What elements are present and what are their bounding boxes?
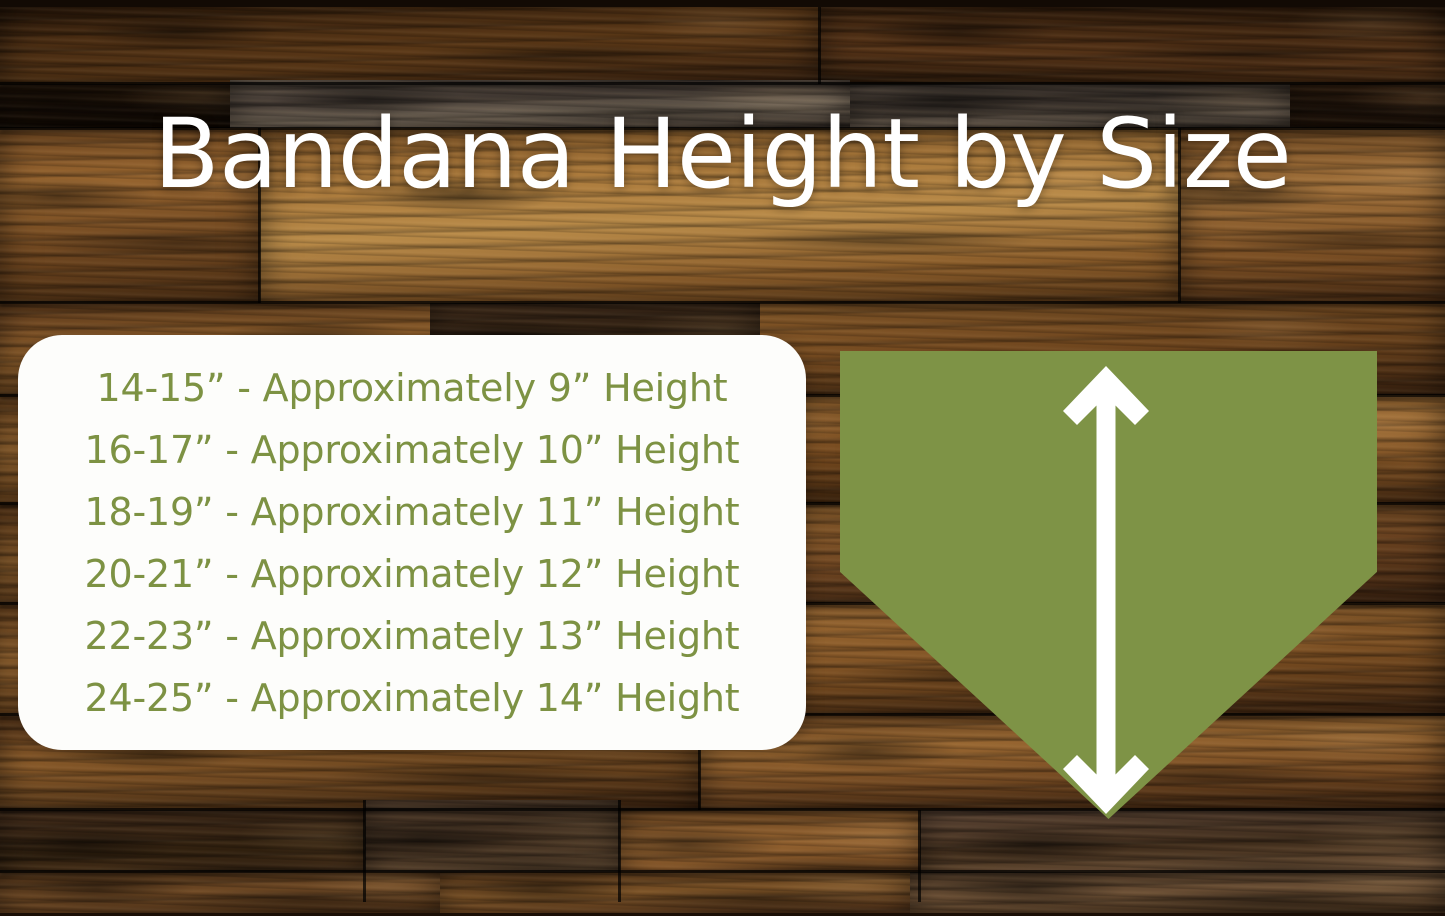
list-item: 24-25” - Approximately 14” Height <box>85 667 740 729</box>
list-item: 16-17” - Approximately 10” Height <box>85 419 740 481</box>
list-item: 22-23” - Approximately 13” Height <box>85 605 740 667</box>
plank-seam-vertical <box>918 810 921 902</box>
page-title: Bandana Height by Size <box>0 104 1445 205</box>
wood-plank <box>820 0 1445 84</box>
size-chart-card: 14-15” - Approximately 9” Height 16-17” … <box>18 335 806 750</box>
wood-plank <box>0 0 820 84</box>
height-measurement-arrow-icon <box>1058 364 1158 816</box>
wood-plank <box>0 872 440 916</box>
wood-plank <box>440 872 910 916</box>
list-item: 14-15” - Approximately 9” Height <box>97 357 728 419</box>
wood-plank <box>910 872 1445 916</box>
plank-seam <box>0 301 1445 304</box>
plank-seam <box>0 808 1445 811</box>
plank-seam-vertical <box>818 0 821 84</box>
plank-seam-vertical <box>363 800 366 902</box>
plank-seam <box>0 870 1445 873</box>
list-item: 20-21” - Approximately 12” Height <box>85 543 740 605</box>
plank-seam <box>0 82 1445 85</box>
list-item: 18-19” - Approximately 11” Height <box>85 481 740 543</box>
plank-seam-vertical <box>618 800 621 902</box>
infographic-poster: Bandana Height by Size 14-15” - Approxim… <box>0 0 1445 916</box>
photo-frame-top-edge <box>0 0 1445 7</box>
